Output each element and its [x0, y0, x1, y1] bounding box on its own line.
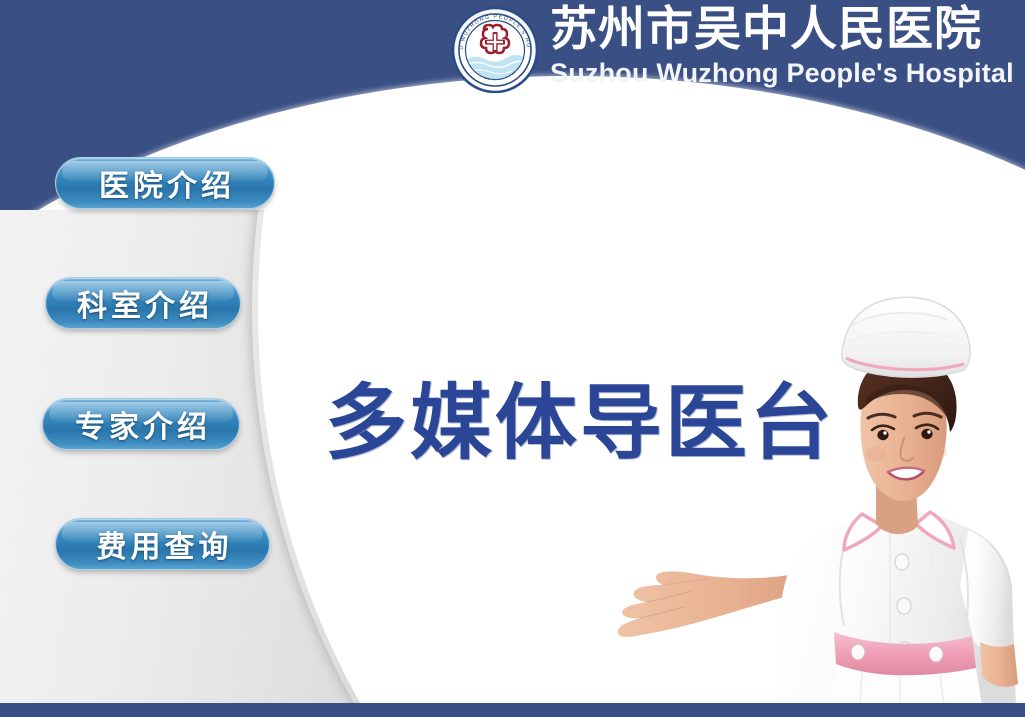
- brand-lockup: SUZHOU WUZHONG PEOPLE'S HOSPITAL 苏州市吴中人民…: [452, 4, 1014, 93]
- nurse-cap: [842, 297, 970, 377]
- sidebar-item-label: 科室介绍: [73, 281, 213, 325]
- sidebar-item-fee-inquiry[interactable]: 费用查询: [55, 518, 270, 570]
- brand-text: 苏州市吴中人民医院 Suzhou Wuzhong People's Hospit…: [550, 4, 1014, 87]
- sidebar-item-label: 专家介绍: [71, 402, 211, 446]
- kiosk-screen: SUZHOU WUZHONG PEOPLE'S HOSPITAL 苏州市吴中人民…: [0, 0, 1025, 717]
- sidebar-item-label: 费用查询: [93, 522, 233, 566]
- sidebar-item-hospital-intro[interactable]: 医院介绍: [55, 157, 275, 209]
- sidebar-nav: 医院介绍 科室介绍 专家介绍 费用查询: [0, 0, 300, 717]
- hospital-name-en: Suzhou Wuzhong People's Hospital: [550, 60, 1014, 87]
- hospital-seal-logo-icon: SUZHOU WUZHONG PEOPLE'S HOSPITAL 苏州市吴中人民…: [452, 7, 538, 93]
- sidebar-item-specialist-intro[interactable]: 专家介绍: [42, 398, 240, 450]
- hospital-name-cn: 苏州市吴中人民医院: [550, 6, 1014, 53]
- sidebar-item-department-intro[interactable]: 科室介绍: [45, 277, 241, 329]
- sidebar-item-label: 医院介绍: [95, 161, 235, 205]
- page-title: 多媒体导医台: [325, 356, 835, 475]
- footer-bar: [0, 703, 1025, 717]
- nurse-photo: [600, 286, 1025, 706]
